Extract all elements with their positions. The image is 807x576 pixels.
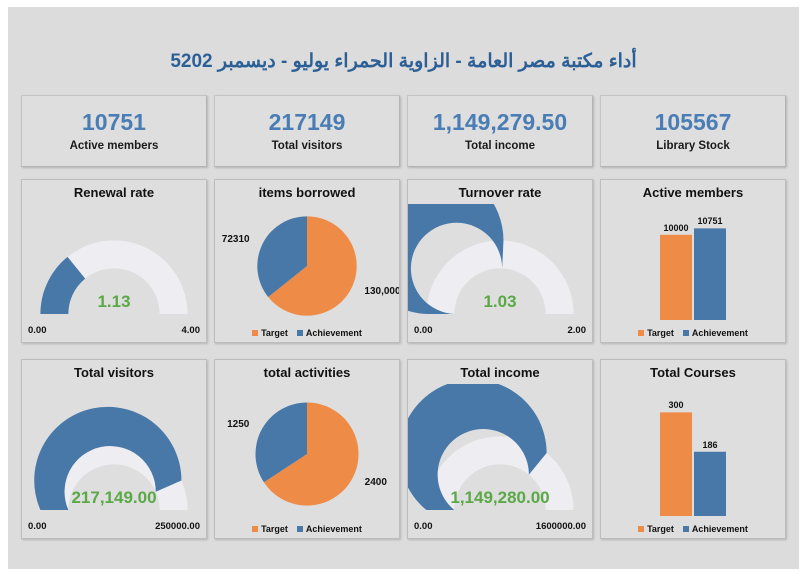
- chart-card-total-income: Total income 1,149,280.000.001600000.00: [407, 359, 593, 539]
- pie-slice-label: 130,000: [364, 286, 400, 297]
- gauge-arc: [22, 384, 206, 538]
- gauge-arc: [408, 384, 592, 538]
- legend-label: Target: [647, 524, 674, 534]
- legend-item-target[interactable]: Target: [252, 524, 288, 534]
- bar-value-label: 300: [652, 400, 700, 410]
- gauge: 1.030.002.00: [408, 204, 592, 342]
- kpi-label: Total income: [465, 140, 535, 152]
- pie: 130,00072310TargetAchievement: [215, 204, 399, 342]
- legend-label: Achievement: [692, 524, 748, 534]
- kpi-card-active-members: 10751 Active members: [21, 95, 207, 167]
- legend-item-achievement[interactable]: Achievement: [683, 524, 748, 534]
- kpi-card-total-visitors: 217149 Total visitors: [214, 95, 400, 167]
- legend-swatch-target-icon: [252, 330, 258, 336]
- legend-swatch-achievement-icon: [297, 526, 303, 532]
- gauge-value: 217,149.00: [22, 488, 206, 508]
- gauge-renewal-rate: 1.130.004.00: [22, 204, 206, 342]
- kpi-value: 10751: [82, 110, 146, 135]
- chart-card-items-borrowed: items borrowed 130,00072310TargetAchieve…: [214, 179, 400, 343]
- bars-total-courses: 300186TargetAchievement: [601, 384, 785, 538]
- chart-title: Total Courses: [601, 365, 785, 380]
- chart-legend: TargetAchievement: [215, 524, 399, 534]
- kpi-card-library-stock: 105567 Library Stock: [600, 95, 786, 167]
- chart-title: Active members: [601, 185, 785, 200]
- legend-swatch-achievement-icon: [683, 526, 689, 532]
- legend-label: Target: [647, 328, 674, 338]
- legend-label: Target: [261, 524, 288, 534]
- gauge-min-label: 0.00: [28, 521, 47, 532]
- chart-title: items borrowed: [215, 185, 399, 200]
- dashboard-title-bar: أداء مكتبة مصر العامة - الزاوية الحمراء …: [8, 39, 799, 83]
- kpi-value: 105567: [655, 110, 732, 135]
- legend-label: Target: [261, 328, 288, 338]
- kpi-value: 217149: [269, 110, 346, 135]
- gauge-turnover-rate: 1.030.002.00: [408, 204, 592, 342]
- gauge-min-label: 0.00: [414, 325, 433, 336]
- page-title: أداء مكتبة مصر العامة - الزاوية الحمراء …: [170, 50, 636, 73]
- pie: 24001250TargetAchievement: [215, 384, 399, 538]
- chart-title: Total visitors: [22, 365, 206, 380]
- chart-title: total activities: [215, 365, 399, 380]
- legend-item-achievement[interactable]: Achievement: [297, 328, 362, 338]
- gauge-max-label: 1600000.00: [536, 521, 586, 532]
- chart-title: Turnover rate: [408, 185, 592, 200]
- legend-item-achievement[interactable]: Achievement: [683, 328, 748, 338]
- legend-item-target[interactable]: Target: [638, 328, 674, 338]
- gauge-arc: [22, 204, 206, 342]
- gauge-min-label: 0.00: [414, 521, 433, 532]
- chart-title: Renewal rate: [22, 185, 206, 200]
- gauge-max-label: 250000.00: [155, 521, 200, 532]
- legend-swatch-target-icon: [638, 526, 644, 532]
- chart-legend: TargetAchievement: [215, 328, 399, 338]
- pie-items-borrowed: 130,00072310TargetAchievement: [215, 204, 399, 342]
- dashboard-page: أداء مكتبة مصر العامة - الزاوية الحمراء …: [8, 7, 799, 569]
- chart-legend: TargetAchievement: [601, 328, 785, 338]
- chart-card-turnover-rate: Turnover rate 1.030.002.00: [407, 179, 593, 343]
- legend-swatch-target-icon: [638, 330, 644, 336]
- pie-slice-label: 2400: [365, 477, 387, 488]
- kpi-label: Total visitors: [272, 140, 343, 152]
- gauge-min-label: 0.00: [28, 325, 47, 336]
- gauge-value: 1.13: [22, 292, 206, 312]
- pie-slices: [215, 384, 399, 538]
- gauge-max-label: 2.00: [568, 325, 587, 336]
- legend-swatch-target-icon: [252, 526, 258, 532]
- legend-label: Achievement: [692, 328, 748, 338]
- pie-slice-label: 1250: [227, 419, 249, 430]
- gauge: 1.130.004.00: [22, 204, 206, 342]
- bar-chart: 1000010751TargetAchievement: [601, 204, 785, 342]
- legend-item-target[interactable]: Target: [252, 328, 288, 338]
- gauge-value: 1,149,280.00: [408, 488, 592, 508]
- bar-value-label: 186: [686, 440, 734, 450]
- chart-card-total-visitors: Total visitors 217,149.000.00250000.00: [21, 359, 207, 539]
- kpi-card-total-income: 1,149,279.50 Total income: [407, 95, 593, 167]
- legend-label: Achievement: [306, 524, 362, 534]
- gauge-total-visitors: 217,149.000.00250000.00: [22, 384, 206, 538]
- gauge: 217,149.000.00250000.00: [22, 384, 206, 538]
- chart-legend: TargetAchievement: [601, 524, 785, 534]
- gauge-value: 1.03: [408, 292, 592, 312]
- legend-item-achievement[interactable]: Achievement: [297, 524, 362, 534]
- bar-chart: 300186TargetAchievement: [601, 384, 785, 538]
- pie-total-activities: 24001250TargetAchievement: [215, 384, 399, 538]
- legend-item-target[interactable]: Target: [638, 524, 674, 534]
- gauge-total-income: 1,149,280.000.001600000.00: [408, 384, 592, 538]
- pie-slices: [215, 204, 399, 342]
- gauge-arc: [408, 204, 592, 342]
- chart-title: Total income: [408, 365, 592, 380]
- kpi-label: Library Stock: [656, 140, 730, 152]
- chart-card-renewal-rate: Renewal rate 1.130.004.00: [21, 179, 207, 343]
- chart-row-2: Total visitors 217,149.000.00250000.00 t…: [21, 359, 786, 539]
- chart-card-total-activities: total activities 24001250TargetAchieveme…: [214, 359, 400, 539]
- bars-active-members: 1000010751TargetAchievement: [601, 204, 785, 342]
- kpi-value: 1,149,279.50: [433, 110, 567, 135]
- legend-swatch-achievement-icon: [683, 330, 689, 336]
- gauge: 1,149,280.000.001600000.00: [408, 384, 592, 538]
- gauge-max-label: 4.00: [182, 325, 201, 336]
- bar-value-label: 10751: [686, 216, 734, 226]
- chart-row-1: Renewal rate 1.130.004.00 items borrowed…: [21, 179, 786, 343]
- chart-card-active-members: Active members 1000010751TargetAchieveme…: [600, 179, 786, 343]
- legend-label: Achievement: [306, 328, 362, 338]
- pie-slice-label: 72310: [222, 234, 250, 245]
- kpi-label: Active members: [70, 140, 159, 152]
- legend-swatch-achievement-icon: [297, 330, 303, 336]
- kpi-row: 10751 Active members 217149 Total visito…: [21, 95, 786, 167]
- chart-card-total-courses: Total Courses 300186TargetAchievement: [600, 359, 786, 539]
